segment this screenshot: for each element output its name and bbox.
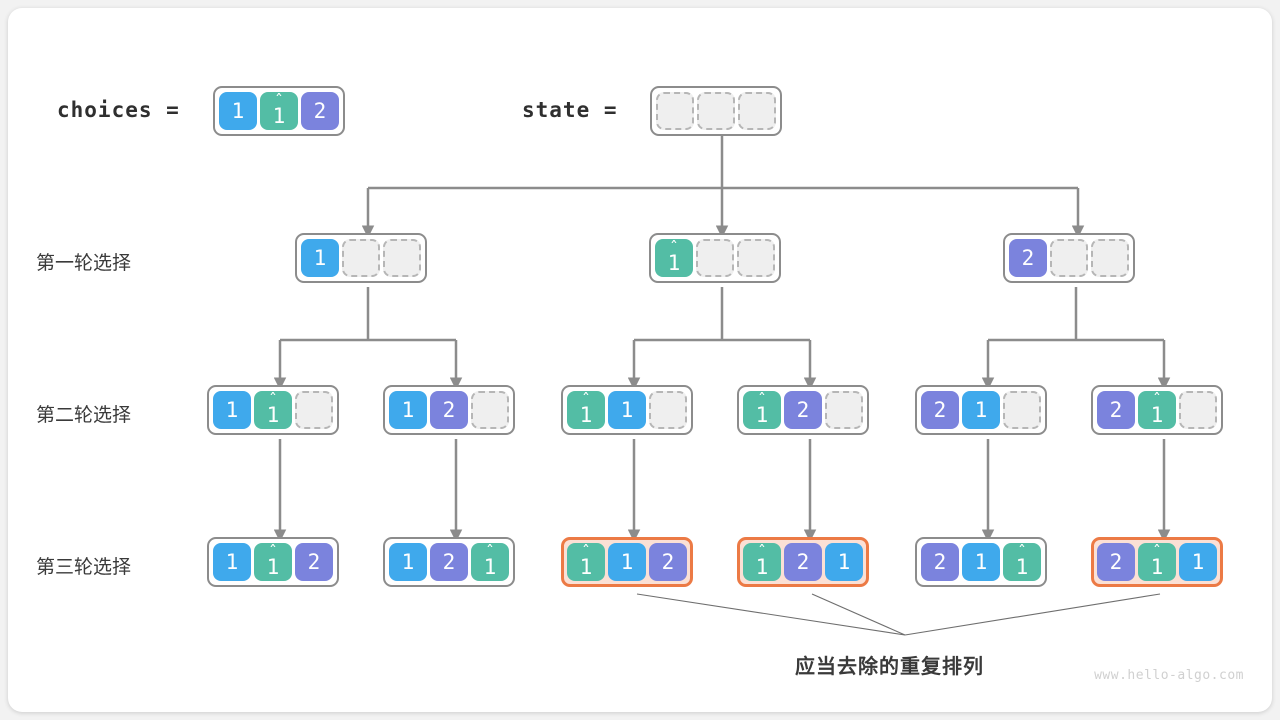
cell-value: 2 — [662, 552, 675, 573]
cell-value: 1 — [226, 552, 239, 573]
state-cell-blue: 1 — [213, 391, 251, 429]
cell-value: 1 — [402, 400, 415, 421]
cell-value: 1 — [1151, 405, 1164, 426]
cell-value: 1 — [975, 400, 988, 421]
tree-node-r3-n5: 21ˆ1 — [915, 537, 1047, 587]
tree-node-r2-n6: 2ˆ1 — [1091, 385, 1223, 435]
state-empty-cell — [696, 239, 734, 277]
state-cell-blue: 1 — [608, 391, 646, 429]
state-empty-cell — [1050, 239, 1088, 277]
state-empty-cell — [342, 239, 380, 277]
row-label-round-2: 第二轮选择 — [36, 400, 131, 427]
diagram-card — [8, 8, 1272, 712]
state-cell-blue: 1 — [389, 391, 427, 429]
cell-value: 1 — [1016, 557, 1029, 578]
cell-value: 2 — [443, 400, 456, 421]
cell-value: 1 — [267, 405, 280, 426]
tree-node-r2-n3: ˆ11 — [561, 385, 693, 435]
tree-node-r2-n4: ˆ12 — [737, 385, 869, 435]
choices-label: choices = — [57, 98, 180, 122]
state-cell-purple: 2 — [1009, 239, 1047, 277]
state-empty-cell — [1091, 239, 1129, 277]
cell-value: 2 — [934, 552, 947, 573]
state-empty-cell — [295, 391, 333, 429]
cell-value: 2 — [308, 552, 321, 573]
tree-node-r3-n1: 1ˆ12 — [207, 537, 339, 587]
diagram-canvas: choices = 1ˆ12 state = 第一轮选择 第二轮选择 第三轮选择… — [0, 0, 1280, 720]
state-cell-blue: 1 — [389, 543, 427, 581]
state-cell-teal: ˆ1 — [743, 543, 781, 581]
state-cell-teal: ˆ1 — [254, 543, 292, 581]
state-empty-cell — [737, 239, 775, 277]
state-cell-teal: ˆ1 — [567, 543, 605, 581]
cell-value: 1 — [267, 557, 280, 578]
cell-value: 2 — [1110, 552, 1123, 573]
row-label-round-3: 第三轮选择 — [36, 552, 131, 579]
state-empty-cell — [1179, 391, 1217, 429]
cell-value: 1 — [668, 253, 681, 274]
state-cell-purple: 2 — [921, 391, 959, 429]
state-cell-teal: ˆ1 — [1138, 391, 1176, 429]
state-array — [650, 86, 782, 136]
cell-value: 1 — [580, 557, 593, 578]
state-empty-cell — [656, 92, 694, 130]
caption-text: 应当去除的重复排列 — [795, 650, 984, 679]
choices-array: 1ˆ12 — [213, 86, 345, 136]
state-empty-cell — [738, 92, 776, 130]
state-empty-cell — [825, 391, 863, 429]
choices-cell-purple: 2 — [301, 92, 339, 130]
cell-value: 1 — [756, 405, 769, 426]
state-cell-teal: ˆ1 — [655, 239, 693, 277]
state-cell-teal: ˆ1 — [471, 543, 509, 581]
state-cell-purple: 2 — [649, 543, 687, 581]
tree-node-r3-n6-duplicate: 2ˆ11 — [1091, 537, 1223, 587]
state-cell-teal: ˆ1 — [567, 391, 605, 429]
cell-value: 1 — [621, 552, 634, 573]
state-cell-teal: ˆ1 — [743, 391, 781, 429]
state-cell-teal: ˆ1 — [1138, 543, 1176, 581]
state-cell-blue: 1 — [962, 391, 1000, 429]
cell-value: 2 — [934, 400, 947, 421]
cell-value: 1 — [838, 552, 851, 573]
state-cell-purple: 2 — [430, 543, 468, 581]
state-cell-blue: 1 — [962, 543, 1000, 581]
choices-cell-teal: ˆ1 — [260, 92, 298, 130]
tree-node-r1-n2: ˆ1 — [649, 233, 781, 283]
cell-value: 1 — [314, 248, 327, 269]
tree-node-r2-n5: 21 — [915, 385, 1047, 435]
cell-value: 2 — [1110, 400, 1123, 421]
cell-value: 2 — [314, 101, 327, 122]
cell-value: 1 — [273, 106, 286, 127]
state-cell-purple: 2 — [784, 543, 822, 581]
choices-cell-blue: 1 — [219, 92, 257, 130]
cell-value: 1 — [484, 557, 497, 578]
state-empty-cell — [649, 391, 687, 429]
cell-value: 1 — [226, 400, 239, 421]
state-cell-blue: 1 — [608, 543, 646, 581]
tree-node-r2-n1: 1ˆ1 — [207, 385, 339, 435]
cell-value: 2 — [443, 552, 456, 573]
state-empty-cell — [1003, 391, 1041, 429]
cell-value: 2 — [797, 400, 810, 421]
state-cell-blue: 1 — [825, 543, 863, 581]
tree-node-r2-n2: 12 — [383, 385, 515, 435]
state-cell-blue: 1 — [213, 543, 251, 581]
tree-node-r3-n4-duplicate: ˆ121 — [737, 537, 869, 587]
state-cell-purple: 2 — [430, 391, 468, 429]
state-cell-teal: ˆ1 — [1003, 543, 1041, 581]
cell-value: 1 — [756, 557, 769, 578]
tree-node-r1-n1: 1 — [295, 233, 427, 283]
tree-node-r3-n2: 12ˆ1 — [383, 537, 515, 587]
state-empty-cell — [383, 239, 421, 277]
cell-value: 1 — [1192, 552, 1205, 573]
cell-value: 1 — [621, 400, 634, 421]
tree-node-r1-n3: 2 — [1003, 233, 1135, 283]
row-label-round-1: 第一轮选择 — [36, 248, 131, 275]
cell-value: 1 — [975, 552, 988, 573]
watermark: www.hello-algo.com — [1094, 668, 1244, 683]
state-cell-purple: 2 — [1097, 543, 1135, 581]
cell-value: 1 — [1151, 557, 1164, 578]
state-cell-teal: ˆ1 — [254, 391, 292, 429]
cell-value: 1 — [232, 101, 245, 122]
state-cell-purple: 2 — [1097, 391, 1135, 429]
state-empty-cell — [697, 92, 735, 130]
state-cell-blue: 1 — [301, 239, 339, 277]
cell-value: 1 — [580, 405, 593, 426]
state-cell-purple: 2 — [921, 543, 959, 581]
tree-node-r3-n3-duplicate: ˆ112 — [561, 537, 693, 587]
state-label: state = — [522, 98, 618, 122]
cell-value: 1 — [402, 552, 415, 573]
state-cell-purple: 2 — [784, 391, 822, 429]
state-cell-purple: 2 — [295, 543, 333, 581]
cell-value: 2 — [797, 552, 810, 573]
state-cell-blue: 1 — [1179, 543, 1217, 581]
cell-value: 2 — [1022, 248, 1035, 269]
state-empty-cell — [471, 391, 509, 429]
